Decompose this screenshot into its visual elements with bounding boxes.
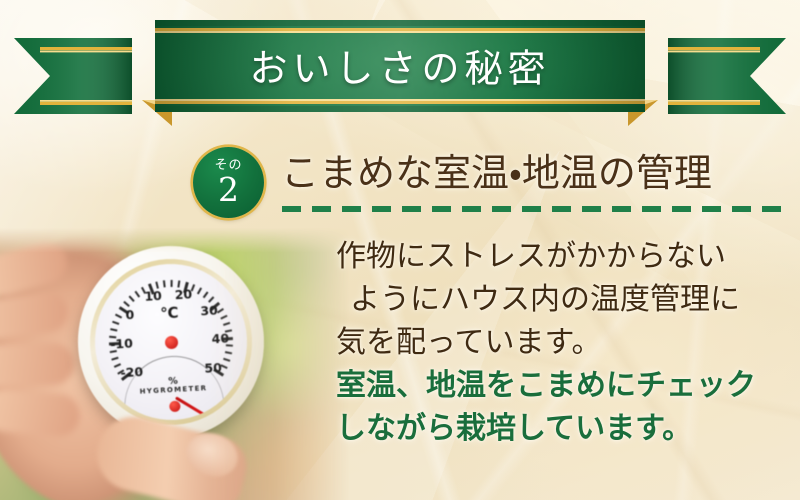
- step-badge-number: 2: [218, 173, 239, 206]
- ribbon-banner: おいしさの秘密: [0, 14, 800, 120]
- ribbon-tail-right: [668, 38, 786, 114]
- finger: [0, 290, 70, 343]
- dashed-divider: [282, 206, 790, 212]
- gauge-scale-number: 40: [212, 325, 229, 352]
- body-line: ようにハウス内の温度管理に: [336, 279, 796, 322]
- promo-panel: -20-1001020304050 ℃ % HYGROMETER: [0, 0, 800, 500]
- banner-title: おいしさの秘密: [155, 37, 645, 92]
- gauge-scale-number: 30: [195, 296, 223, 326]
- thermometer-photo: -20-1001020304050 ℃ % HYGROMETER: [0, 228, 360, 500]
- step-badge: その 2: [193, 147, 264, 218]
- celsius-label: ℃: [160, 304, 179, 323]
- ribbon-tail-left: [14, 38, 132, 114]
- body-line: 気を配っています。: [336, 322, 796, 365]
- ribbon-band: おいしさの秘密: [155, 20, 645, 112]
- body-line: しながら栽培しています。: [336, 408, 796, 451]
- finger: [0, 388, 82, 438]
- subdial-hub: [169, 401, 181, 413]
- section-headline: こまめな室温・地温の管理: [281, 152, 793, 195]
- body-line: 室温、地温をこまめにチェック: [336, 365, 796, 408]
- finger: [0, 342, 75, 387]
- body-copy: 作物にストレスがかからないようにハウス内の温度管理に気を配っています。室温、地温…: [336, 236, 796, 450]
- gauge-scale-number: -10: [114, 331, 130, 358]
- needle-hub: [164, 335, 178, 349]
- body-line: 作物にストレスがかからない: [336, 236, 796, 279]
